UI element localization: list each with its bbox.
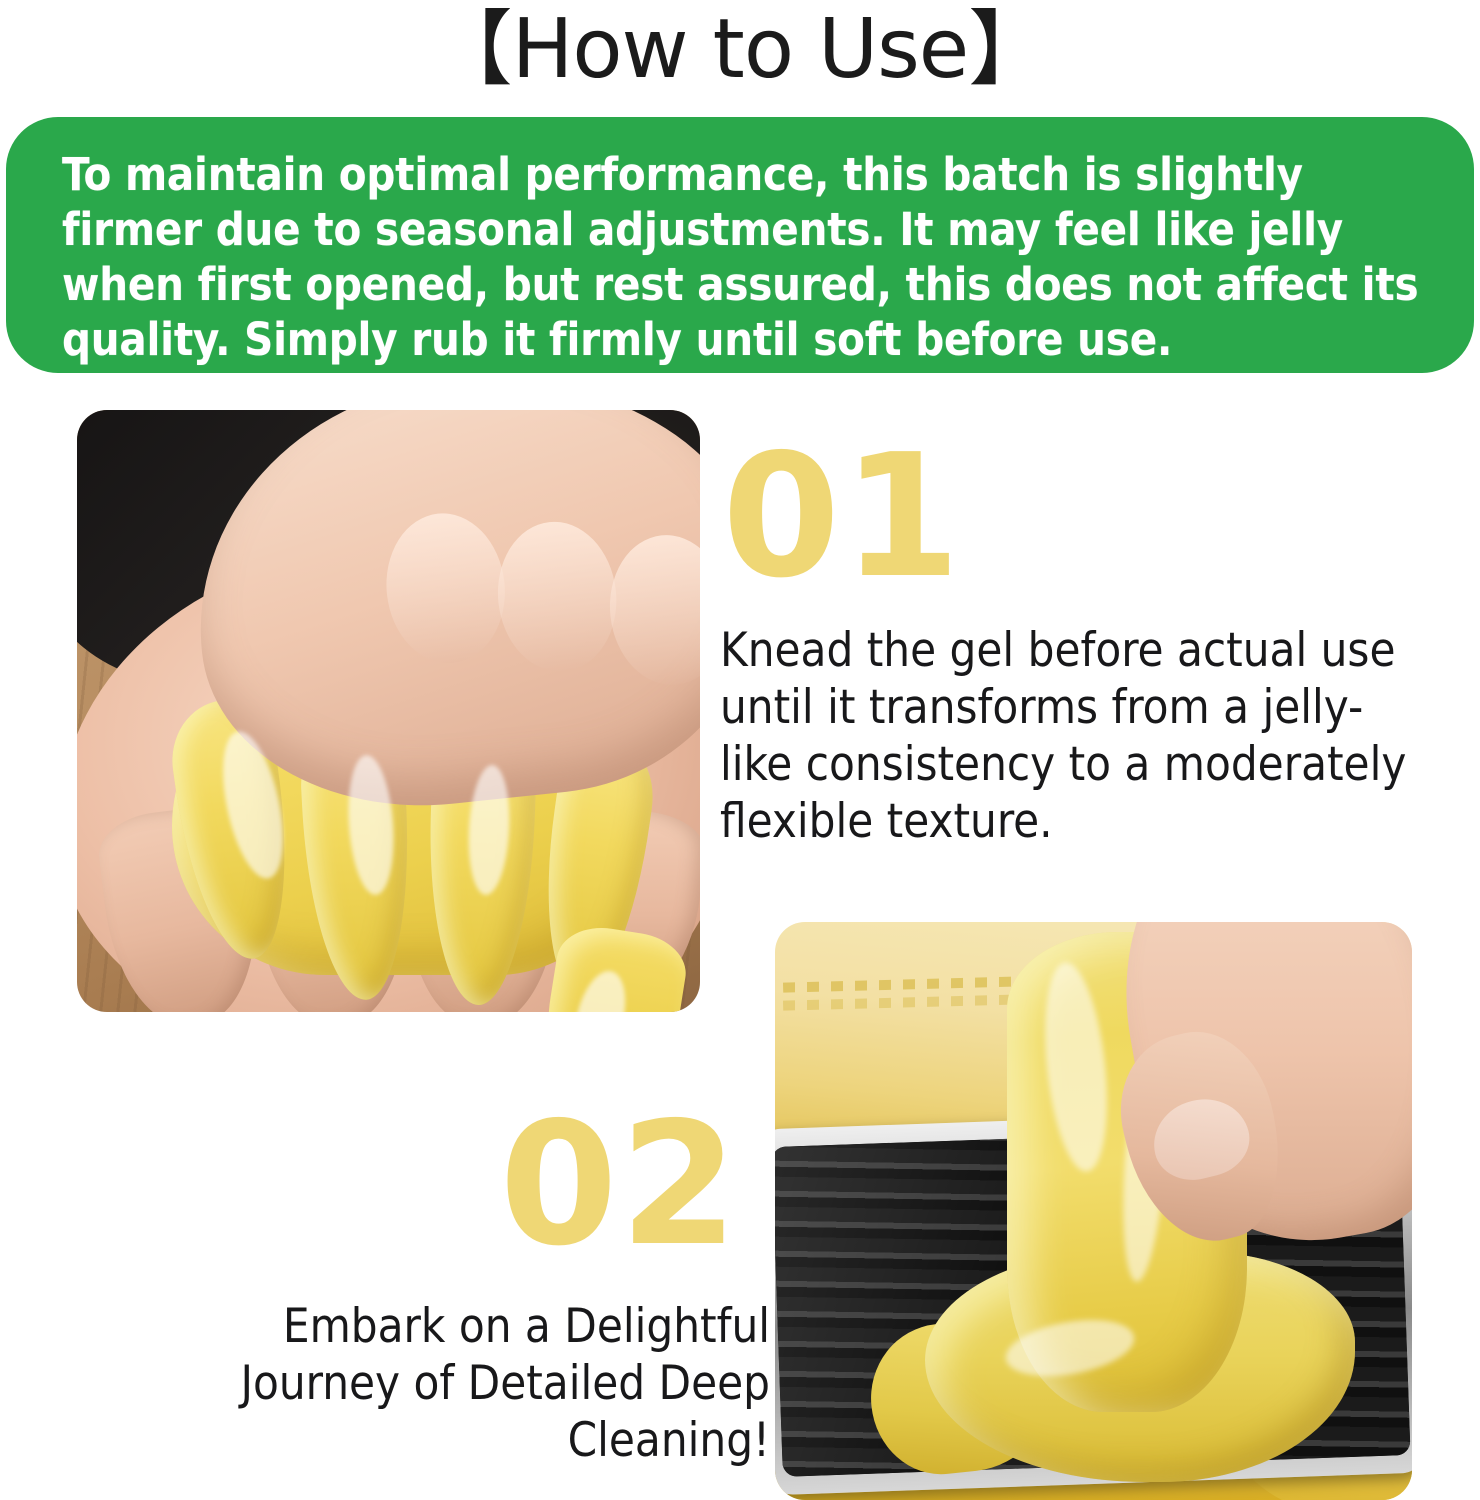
step-2-caption: Embark on a Delightful Journey of Detail… bbox=[130, 1298, 770, 1469]
step-2-number: 02 bbox=[240, 1100, 740, 1270]
step-1-photo-knead-gel bbox=[77, 410, 700, 1012]
page-title: 【How to Use】 bbox=[0, 2, 1480, 98]
notice-banner: To maintain optimal performance, this ba… bbox=[6, 117, 1474, 373]
notice-banner-text: To maintain optimal performance, this ba… bbox=[62, 147, 1444, 367]
knuckle bbox=[491, 516, 624, 678]
knuckle bbox=[379, 508, 512, 670]
step-1-number: 01 bbox=[722, 432, 963, 602]
step-2-photo-clean-vent bbox=[775, 922, 1412, 1500]
step-1-caption: Knead the gel before actual use until it… bbox=[720, 622, 1410, 850]
knuckle bbox=[603, 529, 700, 691]
